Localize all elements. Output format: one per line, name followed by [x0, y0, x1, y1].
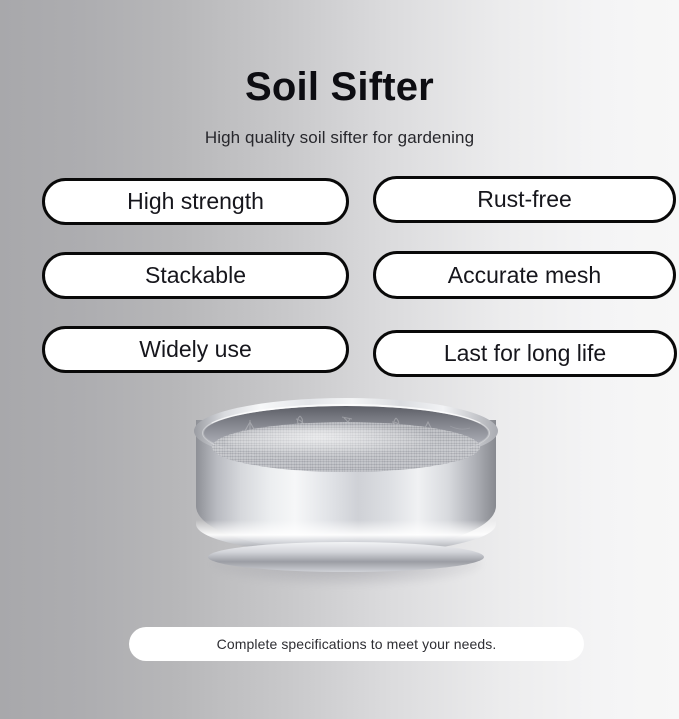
feature-label: Last for long life	[444, 342, 606, 365]
feature-pill-rust-free: Rust-free	[373, 176, 676, 223]
feature-pill-stackable: Stackable	[42, 252, 349, 299]
feature-pill-widely-use: Widely use	[42, 326, 349, 373]
feature-label: Widely use	[139, 338, 251, 361]
sifter-bottom-rim	[208, 542, 484, 572]
feature-label: Stackable	[145, 264, 246, 287]
footer-caption-text: Complete specifications to meet your nee…	[217, 636, 497, 652]
sifter-rim-highlight	[202, 404, 490, 462]
page-title: Soil Sifter	[0, 65, 679, 110]
product-infographic: Soil Sifter High quality soil sifter for…	[0, 0, 679, 719]
footer-caption-bar: Complete specifications to meet your nee…	[129, 627, 584, 661]
feature-label: Accurate mesh	[448, 264, 601, 287]
feature-label: High strength	[127, 190, 264, 213]
feature-pill-high-strength: High strength	[42, 178, 349, 225]
feature-pill-last-for-long-life: Last for long life	[373, 330, 677, 377]
feature-label: Rust-free	[477, 188, 572, 211]
page-subtitle: High quality soil sifter for gardening	[0, 128, 679, 148]
feature-pill-accurate-mesh: Accurate mesh	[373, 251, 676, 299]
product-image-soil-sifter	[186, 392, 506, 592]
